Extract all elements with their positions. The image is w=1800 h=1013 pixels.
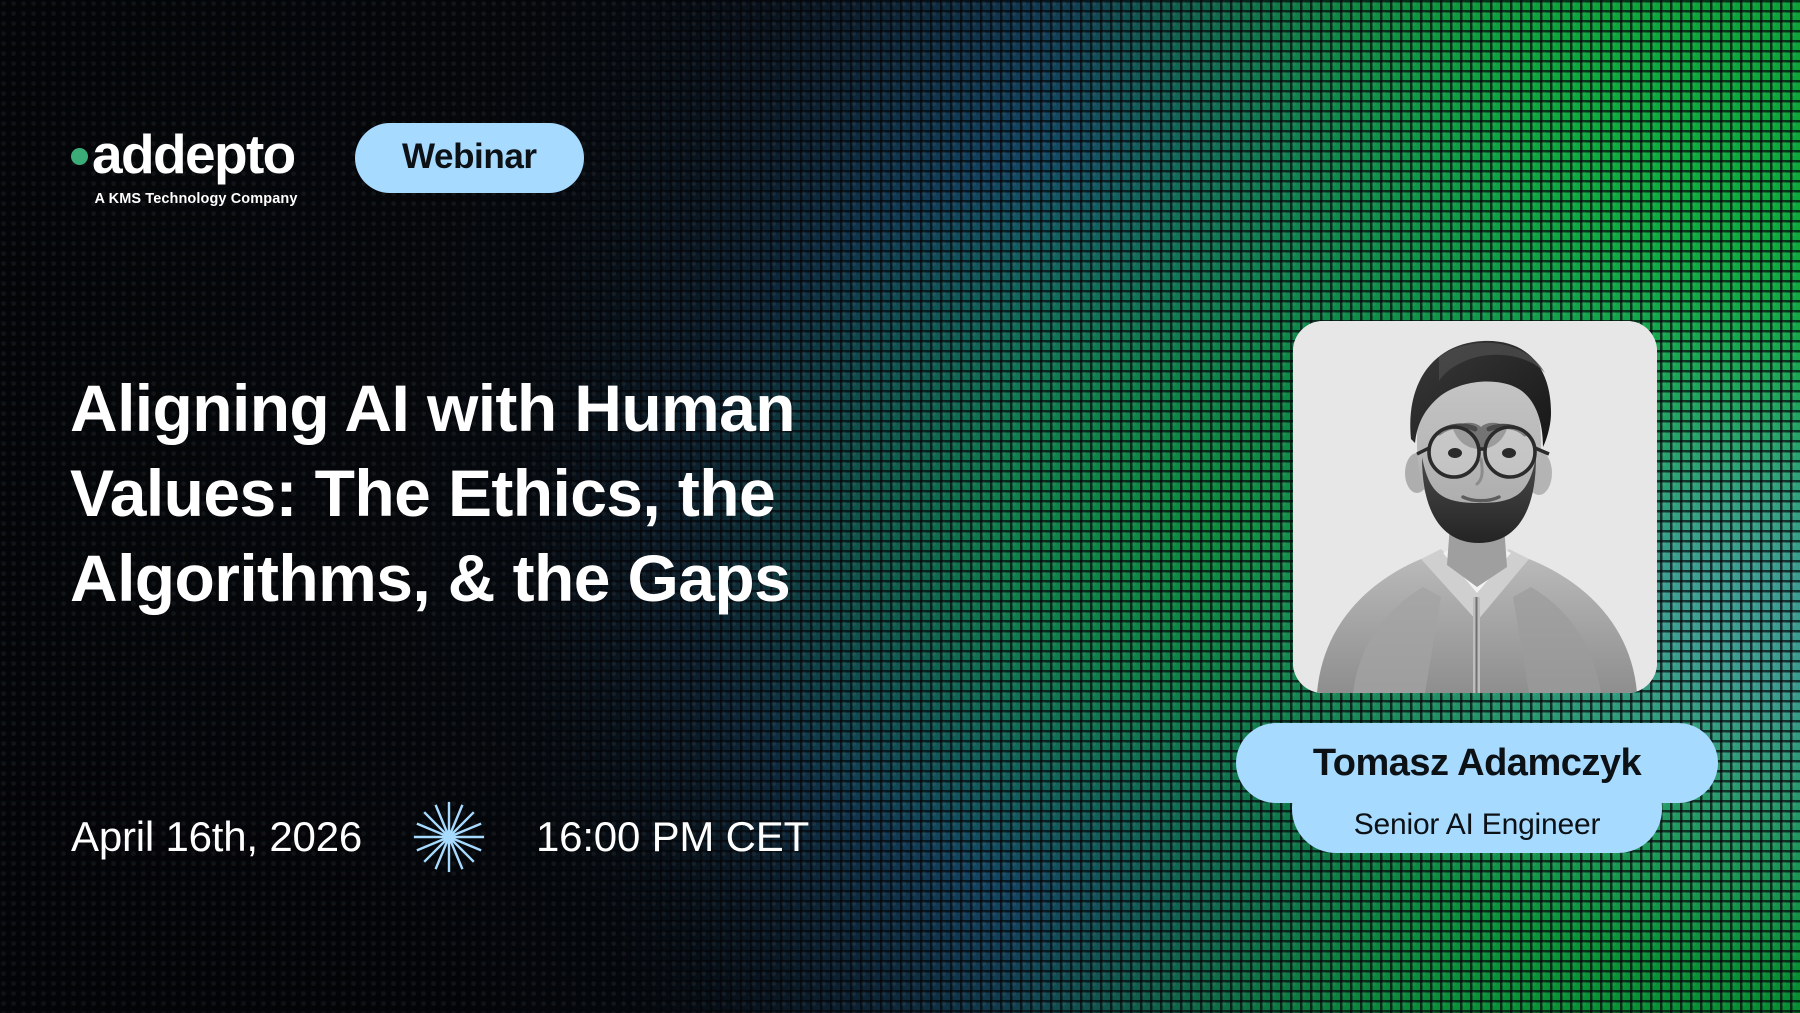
event-date: April 16th, 2026 bbox=[71, 813, 362, 861]
page-title: Aligning AI with Human Values: The Ethic… bbox=[70, 366, 1100, 621]
event-meta-row: April 16th, 2026 16 bbox=[71, 798, 809, 876]
title-line-3: Algorithms, & the Gaps bbox=[70, 536, 1100, 621]
logo-tagline: A KMS Technology Company bbox=[71, 191, 303, 207]
speaker-photo bbox=[1293, 321, 1657, 693]
webinar-banner: addepto A KMS Technology Company Webinar… bbox=[0, 0, 1800, 1013]
banner-header: addepto A KMS Technology Company Webinar bbox=[71, 127, 584, 207]
speaker-name: Tomasz Adamczyk bbox=[1313, 742, 1641, 785]
logo-text: addepto bbox=[92, 127, 295, 182]
title-line-1: Aligning AI with Human bbox=[70, 366, 1100, 451]
event-time: 16:00 PM CET bbox=[536, 813, 809, 861]
speaker-name-pill: Tomasz Adamczyk bbox=[1236, 723, 1718, 803]
green-dot-icon bbox=[71, 148, 88, 165]
speaker-role: Senior AI Engineer bbox=[1354, 808, 1601, 842]
webinar-badge[interactable]: Webinar bbox=[355, 123, 584, 193]
title-line-2: Values: The Ethics, the bbox=[70, 451, 1100, 536]
logo-wordmark: addepto bbox=[71, 127, 303, 182]
speaker-info-card: Senior AI Engineer Tomasz Adamczyk bbox=[1236, 723, 1718, 853]
addepto-logo[interactable]: addepto A KMS Technology Company bbox=[71, 127, 303, 207]
starburst-icon bbox=[410, 798, 488, 876]
